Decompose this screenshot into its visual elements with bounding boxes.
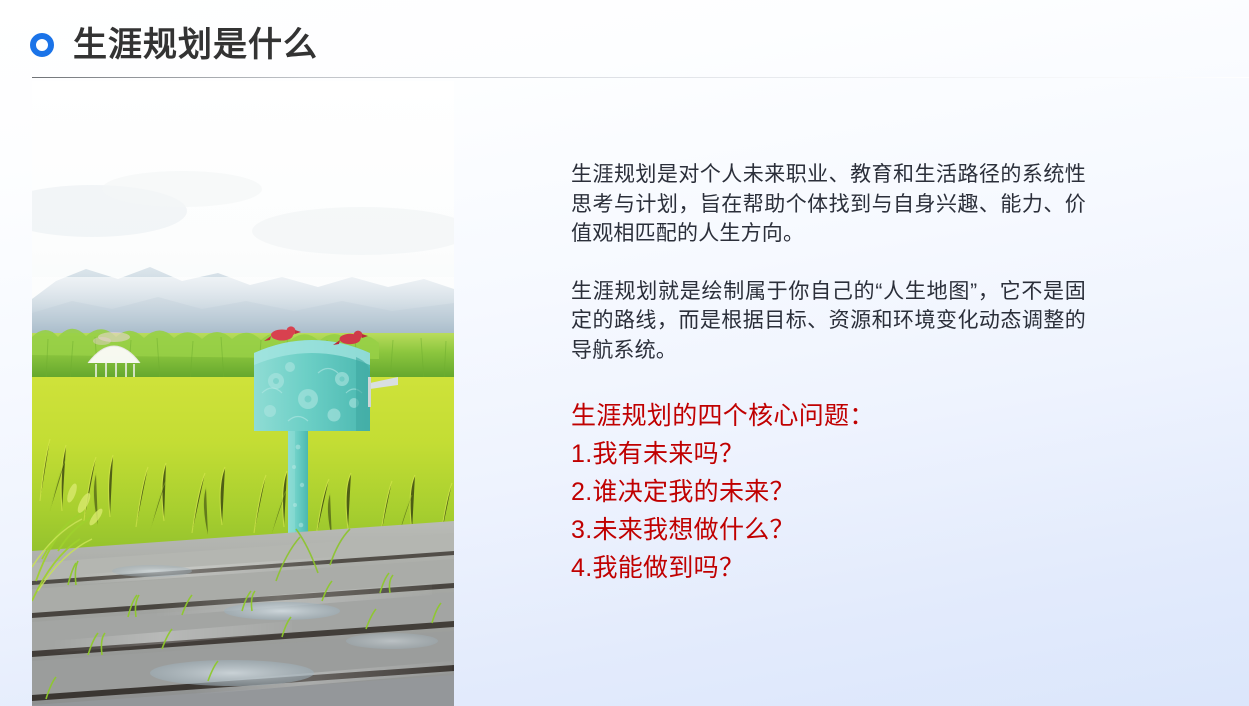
slide-title-row: 生涯规划是什么: [30, 18, 318, 72]
core-questions-block: 生涯规划的四个核心问题： 1.我有未来吗？ 2.谁决定我的未来？ 3.未来我想做…: [571, 397, 1086, 587]
mailbox-in-rice-field-photo: [32, 81, 454, 706]
page-title: 生涯规划是什么: [73, 28, 318, 62]
slide-canvas: 生涯规划是什么: [0, 0, 1249, 706]
ring-circle-icon: [30, 33, 54, 57]
core-question-4: 4.我能做到吗？: [571, 549, 1086, 587]
body-text-column: 生涯规划是对个人未来职业、教育和生活路径的系统性思考与计划，旨在帮助个体找到与自…: [571, 160, 1086, 587]
paragraph-life-map: 生涯规划就是绘制属于你自己的“人生地图”，它不是固定的路线，而是根据目标、资源和…: [571, 277, 1086, 366]
core-question-2: 2.谁决定我的未来？: [571, 473, 1086, 511]
core-questions-heading: 生涯规划的四个核心问题：: [571, 397, 1086, 435]
paragraph-definition: 生涯规划是对个人未来职业、教育和生活路径的系统性思考与计划，旨在帮助个体找到与自…: [571, 160, 1086, 249]
title-divider: [32, 77, 1249, 78]
core-question-3: 3.未来我想做什么？: [571, 511, 1086, 549]
core-question-1: 1.我有未来吗？: [571, 435, 1086, 473]
